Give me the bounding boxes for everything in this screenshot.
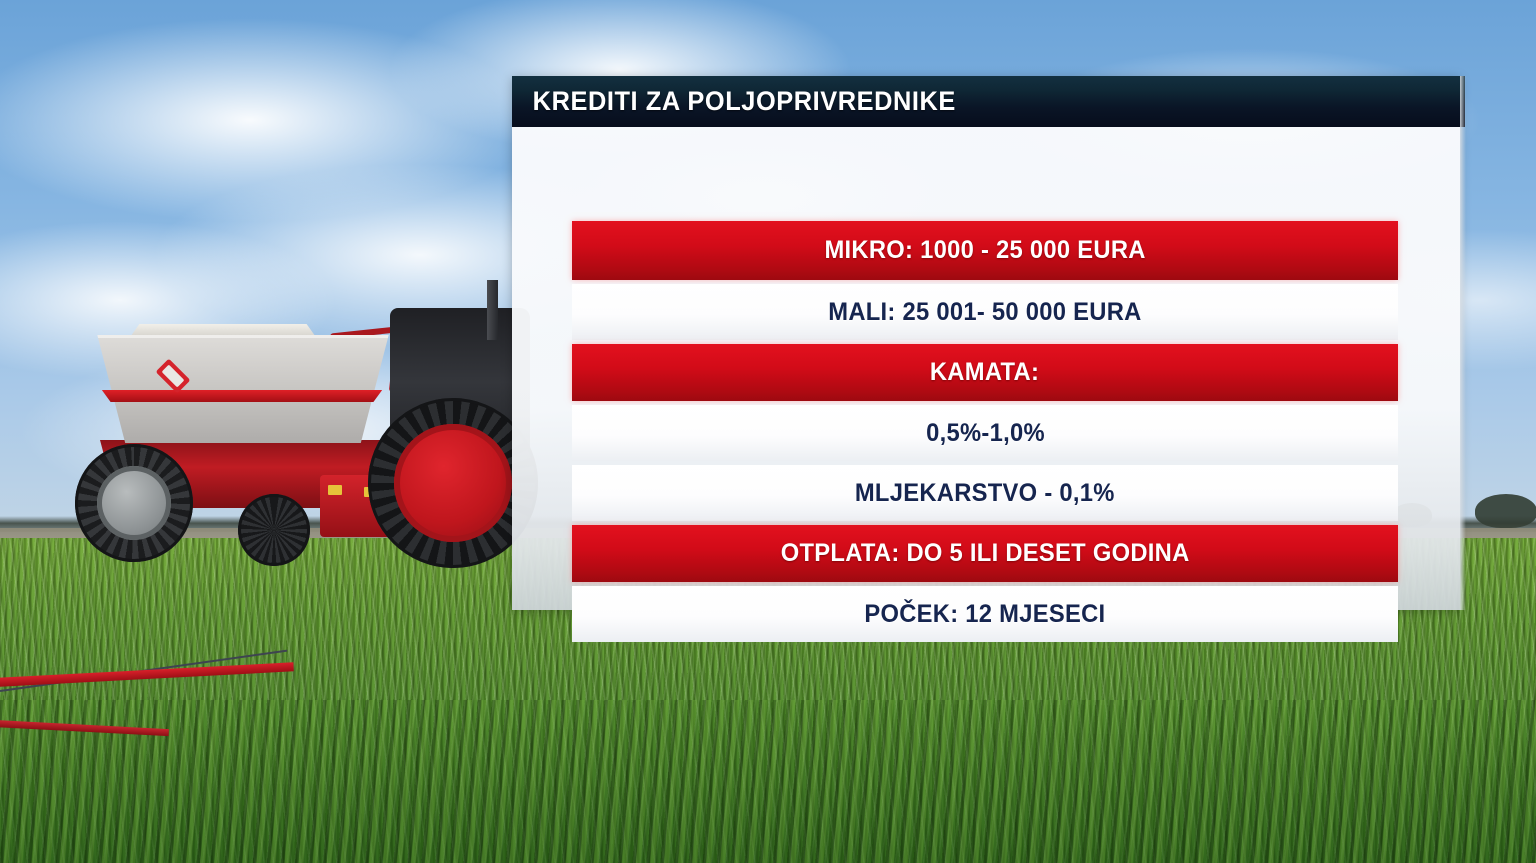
spreader-small-wheel: [238, 494, 310, 566]
page-title: KREDITI ZA POLJOPRIVREDNIKE: [512, 86, 956, 117]
list-item-label: 0,5%-1,0%: [926, 419, 1045, 448]
list-item-label: KAMATA:: [930, 358, 1039, 387]
hopper-red-stripe: [96, 390, 388, 402]
spreader-front-wheel: [75, 444, 193, 562]
list-item: KAMATA:: [572, 344, 1398, 401]
tractor-with-spreader: [0, 280, 520, 580]
list-item: OTPLATA: DO 5 ILI DESET GODINA: [572, 525, 1398, 582]
panel-header-bar: KREDITI ZA POLJOPRIVREDNIKE: [512, 76, 1465, 127]
exhaust-pipe: [487, 280, 498, 340]
info-panel: KREDITI ZA POLJOPRIVREDNIKE MIKRO: 1000 …: [512, 76, 1460, 610]
warning-label-icon: [328, 485, 342, 495]
list-item: MLJEKARSTVO - 0,1%: [572, 465, 1398, 521]
list-item: 0,5%-1,0%: [572, 405, 1398, 461]
spreader-hopper: [88, 335, 398, 443]
list-item-label: MLJEKARSTVO - 0,1%: [855, 479, 1115, 508]
list-item-label: POČEK: 12 MJESECI: [864, 600, 1105, 629]
list-item-label: MIKRO: 1000 - 25 000 EURA: [824, 236, 1145, 265]
grass-foreground: [0, 700, 1536, 863]
list-item: MALI: 25 001- 50 000 EURA: [572, 284, 1398, 340]
panel-edge-fade: [1460, 76, 1466, 610]
list-item-label: MALI: 25 001- 50 000 EURA: [828, 298, 1141, 327]
list-item: POČEK: 12 MJESECI: [572, 586, 1398, 642]
list-item: MIKRO: 1000 - 25 000 EURA: [572, 221, 1398, 280]
broadcast-graphic-screenshot: KREDITI ZA POLJOPRIVREDNIKE MIKRO: 1000 …: [0, 0, 1536, 863]
list-item-label: OTPLATA: DO 5 ILI DESET GODINA: [781, 539, 1190, 568]
info-rows-list: MIKRO: 1000 - 25 000 EURA MALI: 25 001- …: [512, 127, 1460, 610]
